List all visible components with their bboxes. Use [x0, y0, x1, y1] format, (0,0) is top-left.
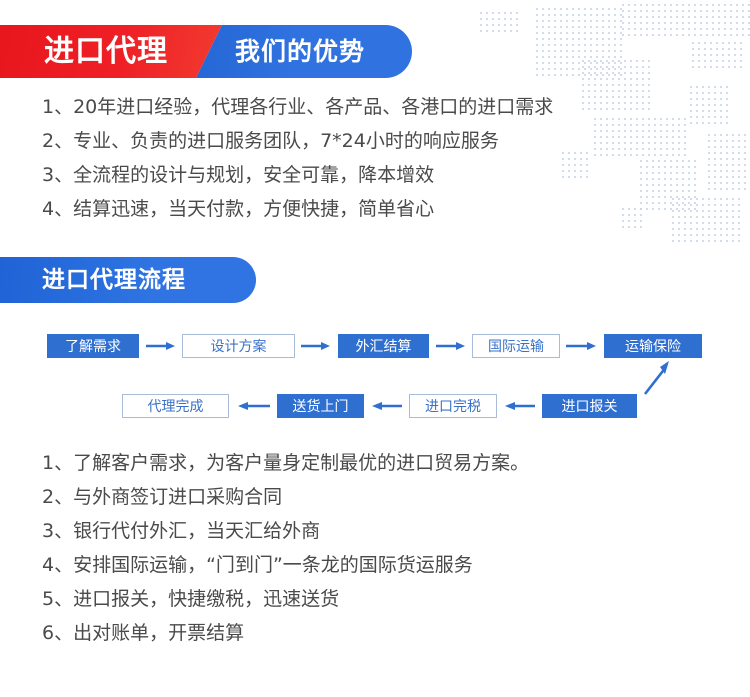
list-item-number: 3、: [42, 516, 73, 543]
dot-patch: [592, 116, 688, 156]
list-item-number: 4、: [42, 194, 73, 221]
dot-patch: [638, 158, 696, 214]
list-item: 3、 银行代付外汇，当天汇给外商: [42, 516, 529, 550]
flow-arrow-right-icon: [146, 341, 176, 351]
flow-arrow-right-icon: [301, 341, 331, 351]
dot-patch: [670, 196, 740, 242]
list-item: 5、 进口报关，快捷缴税，迅速送货: [42, 584, 529, 618]
flow-arrow-left-icon: [371, 401, 402, 411]
list-item: 2、 专业、负责的进口服务团队，7*24小时的响应服务: [42, 126, 553, 160]
dot-patch: [688, 84, 728, 128]
dot-patch: [478, 10, 522, 32]
dot-patch: [560, 150, 590, 178]
list-item-text: 出对账单，开票结算: [73, 618, 244, 645]
list-item: 2、 与外商签订进口采购合同: [42, 482, 529, 516]
list-item-number: 1、: [42, 448, 73, 475]
dot-patch: [706, 132, 750, 194]
list-item: 1、 了解客户需求，为客户量身定制最优的进口贸易方案。: [42, 448, 529, 482]
dot-patch: [620, 206, 646, 230]
dot-patch: [534, 6, 624, 76]
process-banner: 进口代理流程: [0, 257, 256, 303]
list-item-number: 6、: [42, 618, 73, 645]
list-item-number: 1、: [42, 92, 73, 119]
list-item-number: 3、: [42, 160, 73, 187]
flow-step-import-declaration[interactable]: 进口报关: [542, 394, 637, 418]
list-item: 1、 20年进口经验，代理各行业、各产品、各港口的进口需求: [42, 92, 553, 126]
flow-step-understand-needs[interactable]: 了解需求: [47, 334, 139, 358]
list-item-number: 2、: [42, 126, 73, 153]
flow-step-transport-insurance[interactable]: 运输保险: [604, 334, 702, 358]
dot-patch: [580, 58, 654, 112]
list-item-text: 结算迅速，当天付款，方便快捷，简单省心: [73, 194, 434, 221]
list-item-text: 与外商签订进口采购合同: [73, 482, 282, 509]
flow-arrow-left-icon: [504, 401, 535, 411]
flow-step-forex-settlement[interactable]: 外汇结算: [338, 334, 429, 358]
process-steps-list: 1、 了解客户需求，为客户量身定制最优的进口贸易方案。 2、 与外商签订进口采购…: [42, 448, 529, 652]
flow-arrow-left-icon: [236, 401, 270, 411]
dot-patch: [690, 40, 746, 70]
list-item: 4、 结算迅速，当天付款，方便快捷，简单省心: [42, 194, 553, 228]
flow-step-design-plan[interactable]: 设计方案: [182, 334, 295, 358]
flow-step-international-shipping[interactable]: 国际运输: [472, 334, 560, 358]
banner-title-import-process: 进口代理流程: [42, 257, 186, 303]
list-item-text: 银行代付外汇，当天汇给外商: [73, 516, 320, 543]
banner-subtitle-our-advantages: 我们的优势: [235, 25, 365, 78]
dot-patch: [620, 2, 750, 36]
list-item-text: 20年进口经验，代理各行业、各产品、各港口的进口需求: [73, 92, 553, 119]
list-item: 4、 安排国际运输，“门到门”一条龙的国际货运服务: [42, 550, 529, 584]
banner-title-import-agency: 进口代理: [44, 25, 168, 78]
flow-step-import-duty-paid[interactable]: 进口完税: [409, 394, 497, 418]
flow-arrow-right-icon: [436, 341, 466, 351]
list-item: 3、 全流程的设计与规划，安全可靠，降本增效: [42, 160, 553, 194]
list-item-text: 专业、负责的进口服务团队，7*24小时的响应服务: [73, 126, 499, 153]
flow-step-agency-complete[interactable]: 代理完成: [122, 394, 229, 418]
list-item-text: 安排国际运输，“门到门”一条龙的国际货运服务: [73, 550, 473, 577]
advantages-banner: 进口代理 我们的优势: [0, 25, 412, 78]
flow-diagonal-arrow-icon: [640, 358, 674, 396]
flow-step-door-delivery[interactable]: 送货上门: [277, 394, 364, 418]
list-item-text: 进口报关，快捷缴税，迅速送货: [73, 584, 339, 611]
list-item-number: 2、: [42, 482, 73, 509]
process-flow-diagram: 了解需求 设计方案 外汇结算 国际运输 运输保险 代理完成 送货上门 进口完税 …: [0, 320, 750, 430]
list-item-number: 5、: [42, 584, 73, 611]
advantages-list: 1、 20年进口经验，代理各行业、各产品、各港口的进口需求 2、 专业、负责的进…: [42, 92, 553, 228]
list-item: 6、 出对账单，开票结算: [42, 618, 529, 652]
list-item-text: 全流程的设计与规划，安全可靠，降本增效: [73, 160, 434, 187]
list-item-text: 了解客户需求，为客户量身定制最优的进口贸易方案。: [73, 448, 529, 475]
flow-arrow-right-icon: [566, 341, 597, 351]
list-item-number: 4、: [42, 550, 73, 577]
